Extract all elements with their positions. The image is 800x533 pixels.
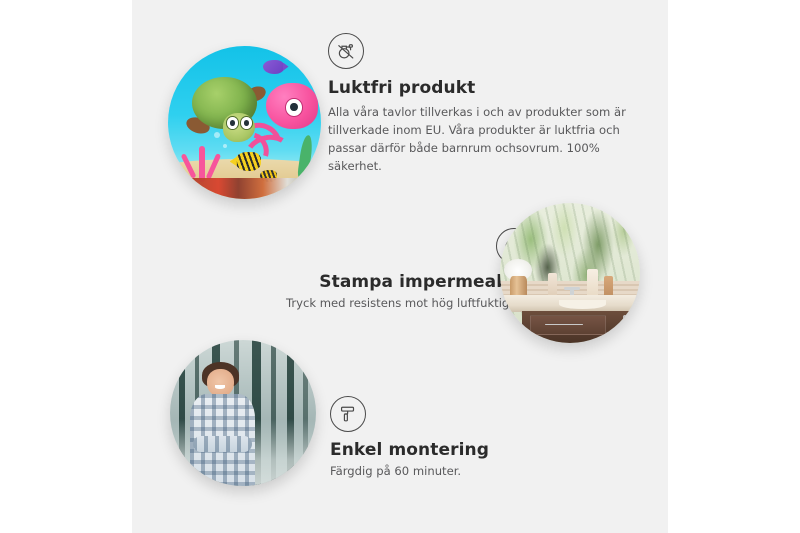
feature-description: Tryck med resistens mot hög luftfuktighe… — [192, 295, 532, 313]
feature-heading: Enkel montering — [330, 440, 630, 460]
feature-description: Färgdig på 60 minuter. — [330, 463, 630, 481]
underwater-cartoon-mural-photo — [168, 46, 321, 199]
infographic-page: Luktfri produkt Alla våra tavlor tillver… — [0, 0, 800, 533]
content-canvas: Luktfri produkt Alla våra tavlor tillver… — [132, 0, 668, 533]
no-fragrance-spray-icon — [328, 33, 364, 69]
bathroom-leaf-wallpaper-photo — [500, 203, 640, 343]
woman-with-roller-forest-photo — [170, 340, 316, 486]
feature-description: Alla våra tavlor tillverkas i och av pro… — [328, 104, 628, 176]
feature-block-waterproof: Stampa impermeabile Tryck med resistens … — [192, 228, 532, 313]
feature-heading: Luktfri produkt — [328, 78, 628, 98]
feature-block-assembly: Enkel montering Färgdig på 60 minuter. — [330, 396, 630, 481]
paint-roller-icon — [330, 396, 366, 432]
feature-block-odourless: Luktfri produkt Alla våra tavlor tillver… — [328, 33, 628, 176]
feature-heading: Stampa impermeabile — [192, 272, 532, 292]
